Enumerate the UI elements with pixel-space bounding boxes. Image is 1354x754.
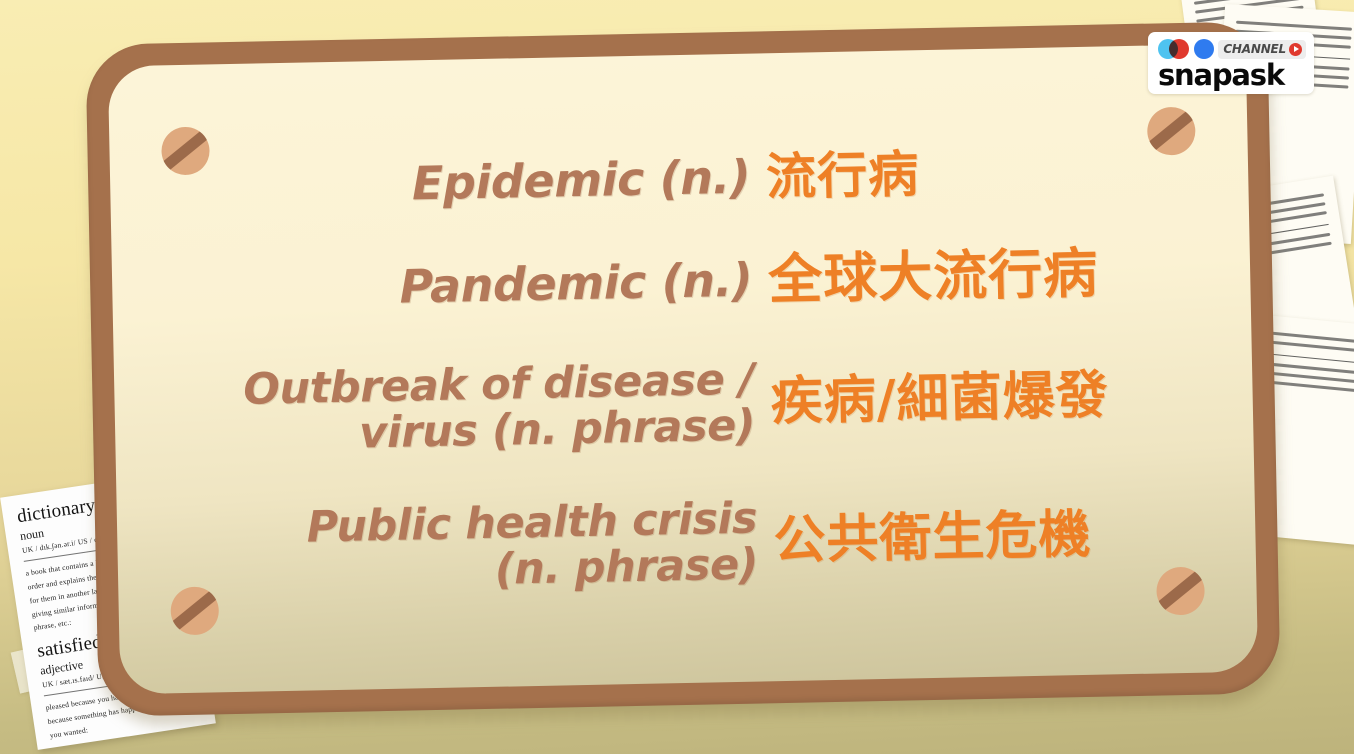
board-frame: Epidemic (n.) 流行病 Pandemic (n.) 全球大流行病 O… (85, 21, 1280, 717)
board-face: Epidemic (n.) 流行病 Pandemic (n.) 全球大流行病 O… (108, 44, 1258, 695)
dictionary-entry-pos: verb (55, 749, 210, 750)
channel-label: CHANNEL (1223, 42, 1286, 56)
logo-dot-blue (1194, 39, 1214, 59)
snapask-logo: CHANNEL snapask (1148, 32, 1314, 94)
vocabulary-board: Epidemic (n.) 流行病 Pandemic (n.) 全球大流行病 O… (85, 21, 1280, 717)
vocabulary-row: Public health crisis (n. phrase) 公共衛生危機 (173, 487, 1201, 600)
slide-canvas: dictionary noun UK / dık.∫ən.ər.i/ US / … (0, 0, 1354, 754)
vocabulary-chinese-term: 公共衛生危機 (773, 505, 1200, 570)
logo-dot-red (1169, 39, 1189, 59)
vocabulary-chinese-term: 流行病 (766, 142, 1193, 205)
vocabulary-row: Outbreak of disease / virus (n. phrase) … (170, 347, 1198, 460)
vocabulary-row: Epidemic (n.) 流行病 (166, 142, 1193, 217)
snapask-dots-icon (1158, 39, 1214, 59)
vocabulary-chinese-term: 全球大流行病 (768, 242, 1195, 309)
vocabulary-english-term: Outbreak of disease / virus (n. phrase) (170, 356, 772, 461)
vocabulary-row: Pandemic (n.) 全球大流行病 (168, 242, 1195, 321)
vocabulary-english-term: Epidemic (n.) (166, 153, 767, 215)
snapask-wordmark: snapask (1158, 61, 1306, 90)
vocabulary-english-term: Public health crisis (n. phrase) (173, 495, 775, 600)
channel-badge: CHANNEL (1218, 40, 1306, 59)
play-icon (1289, 43, 1302, 56)
vocabulary-list: Epidemic (n.) 流行病 Pandemic (n.) 全球大流行病 O… (165, 119, 1201, 623)
logo-top-row: CHANNEL (1158, 38, 1306, 60)
vocabulary-chinese-term: 疾病/細菌爆發 (770, 366, 1197, 431)
vocabulary-english-term: Pandemic (n.) (168, 255, 769, 317)
